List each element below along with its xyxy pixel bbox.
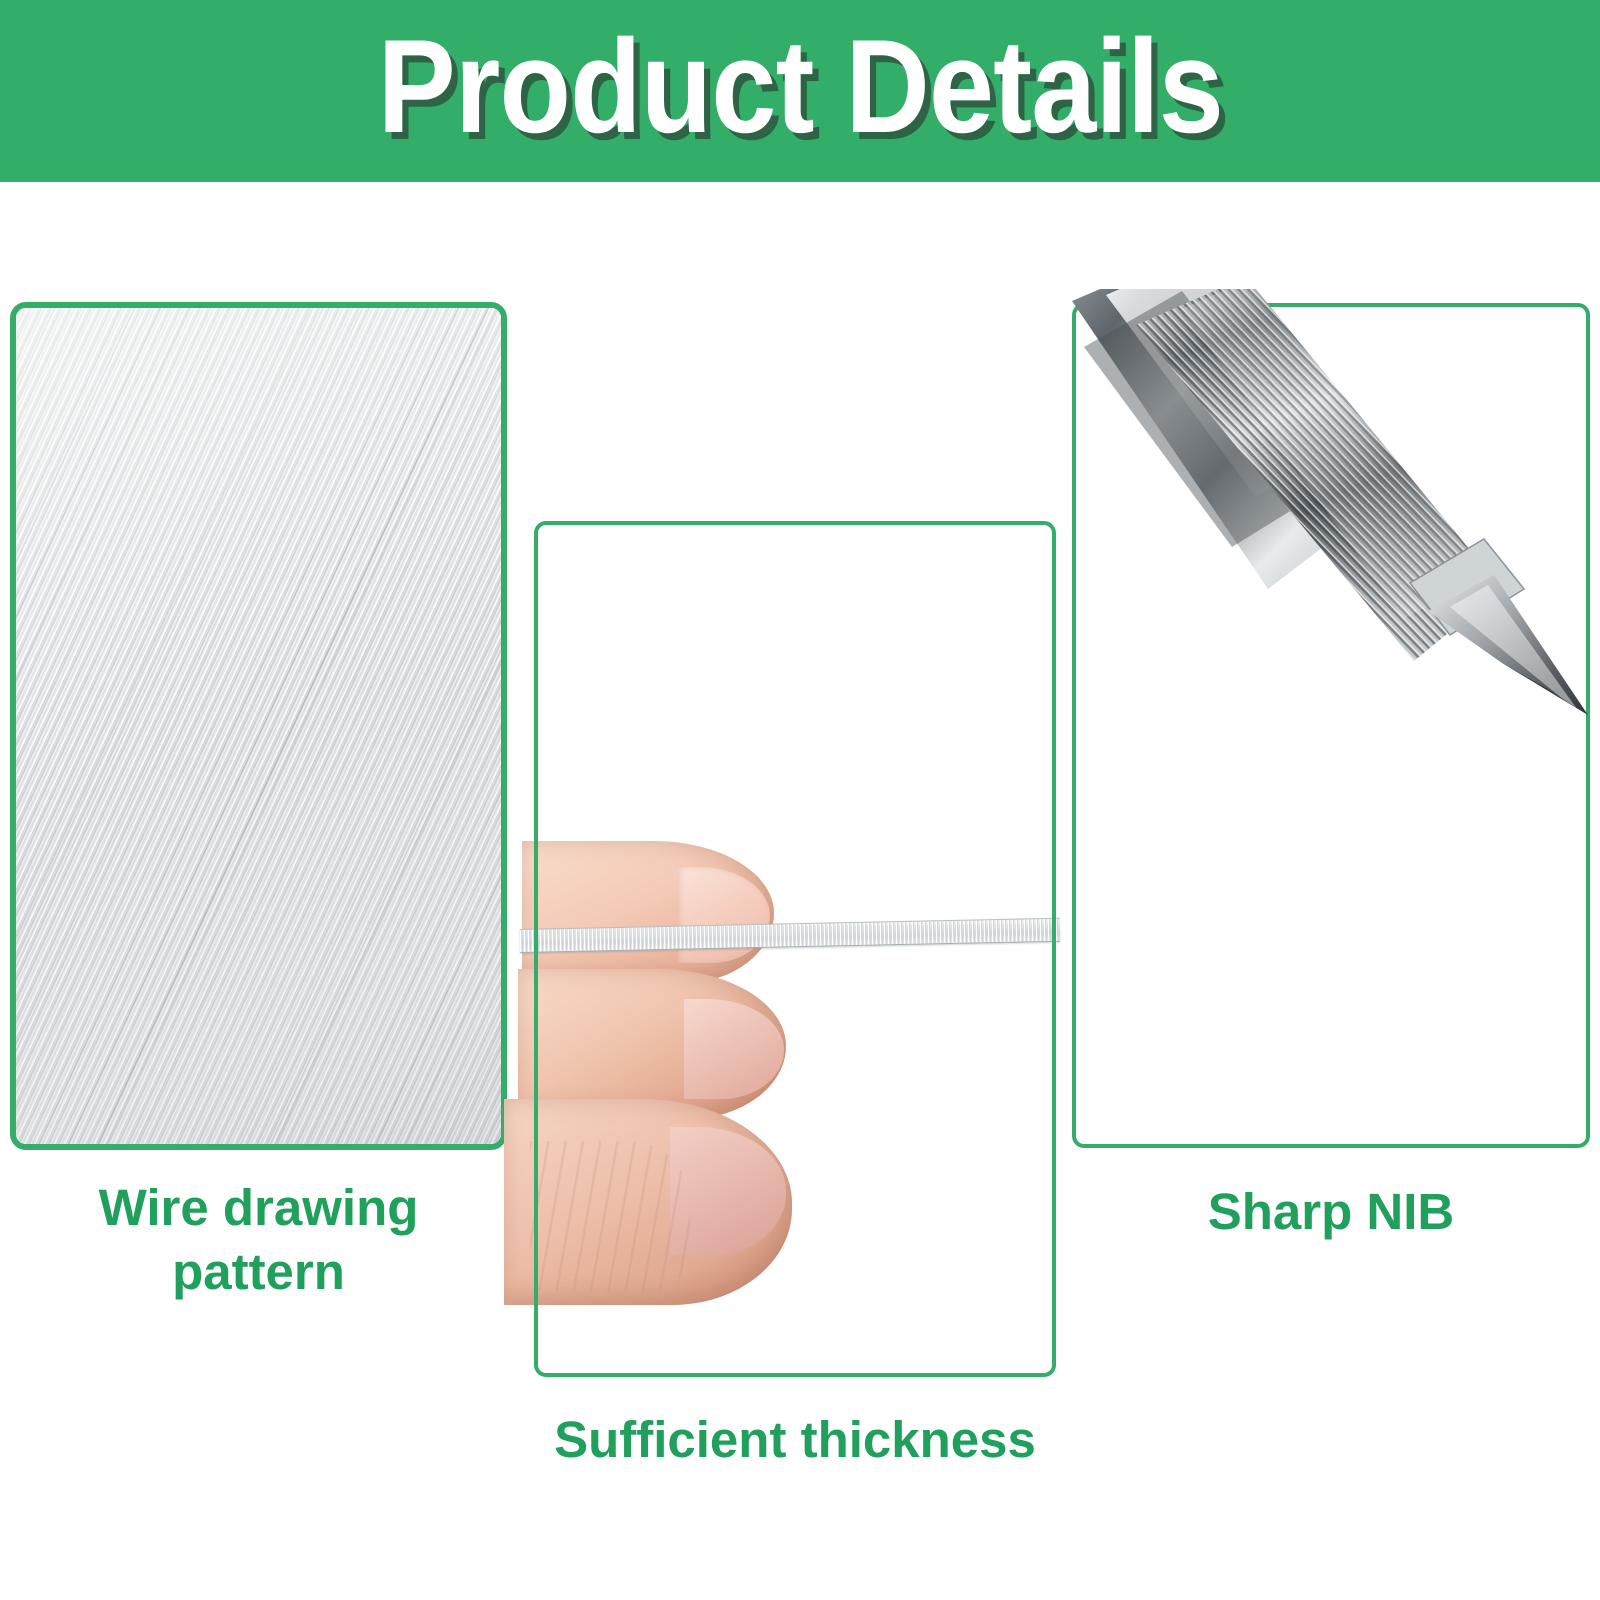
caption-sharp-nib: Sharp NIB bbox=[1072, 1180, 1590, 1244]
caption-wire-drawing: Wire drawing pattern bbox=[10, 1176, 507, 1305]
panel-sharp-nib bbox=[1072, 303, 1590, 1148]
caption-sufficient-thickness: Sufficient thickness bbox=[470, 1408, 1120, 1472]
panel-wire-drawing bbox=[10, 302, 507, 1150]
brushed-metal-shading bbox=[10, 302, 507, 1150]
product-details-infographic: Product Details bbox=[0, 0, 1600, 1600]
header-banner: Product Details bbox=[0, 0, 1600, 182]
brushed-metal-texture-image bbox=[10, 302, 507, 1150]
page-title: Product Details bbox=[377, 21, 1222, 162]
panel-sufficient-thickness bbox=[534, 521, 1056, 1377]
